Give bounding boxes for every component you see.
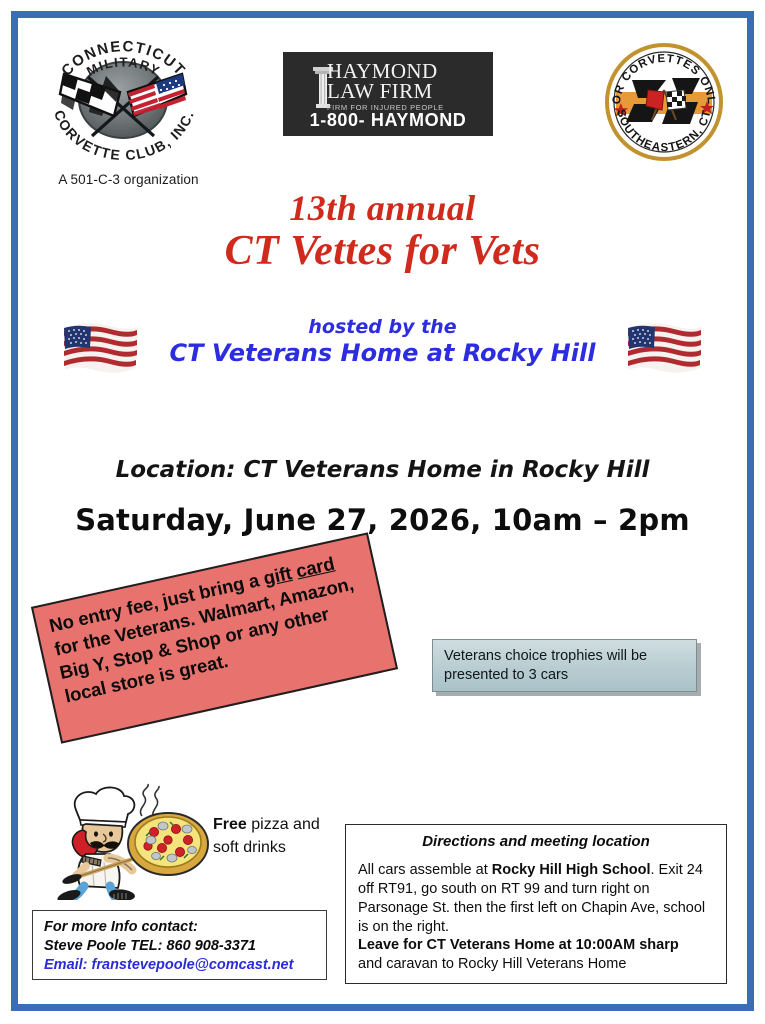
haymond-wordmark: HAYMOND LAW FIRM FIRM FOR INJURED PEOPLE	[283, 57, 493, 109]
for-corvettes-only-southeastern-ct-logo: FOR CORVETTES ONLY SOUTHEASTERN, CT	[604, 42, 724, 162]
free-food-text: Free pizza and soft drinks	[213, 814, 333, 859]
directions-text-3: and caravan to Rocky Hill Veterans Home	[358, 956, 626, 972]
directions-text-1: All cars assemble at	[358, 862, 492, 878]
trophy-info-box: Veterans choice trophies will be present…	[432, 639, 697, 692]
haymond-line1: HAYMOND	[327, 61, 495, 81]
haymond-line2: LAW FIRM	[327, 81, 495, 102]
hosted-by-label: hosted by the	[160, 316, 605, 339]
pizza-chef-illustration	[56, 782, 211, 900]
flyer-page: CONNECTICUT MILITARY CORVETTE CLUB, INC.…	[0, 0, 765, 1024]
directions-bold-school: Rocky Hill High School	[492, 862, 651, 878]
haymond-phone: 1-800- HAYMOND	[283, 110, 493, 131]
directions-title: Directions and meeting location	[358, 833, 714, 850]
contact-heading: For more Info contact:	[44, 918, 315, 937]
contact-name-phone: Steve Poole TEL: 860 908-3371	[44, 937, 315, 956]
american-flag-icon-left	[58, 318, 142, 380]
hosted-by-block: hosted by the CT Veterans Home at Rocky …	[160, 316, 605, 368]
contact-box: For more Info contact: Steve Poole TEL: …	[32, 910, 327, 980]
entry-fee-emphasis-gift: gift	[261, 562, 293, 589]
title-line-2: CT Vettes for Vets	[0, 228, 765, 275]
event-date-time: Saturday, June 27, 2026, 10am – 2pm	[0, 503, 765, 537]
trophy-info-text: Veterans choice trophies will be present…	[444, 647, 685, 686]
event-location: Location: CT Veterans Home in Rocky Hill	[0, 457, 765, 483]
title-line-1: 13th annual	[0, 188, 765, 228]
directions-box: Directions and meeting location All cars…	[345, 824, 727, 984]
free-label: Free	[213, 816, 247, 833]
page-title: 13th annual CT Vettes for Vets	[0, 188, 765, 275]
american-flag-icon-right	[622, 318, 706, 380]
directions-bold-departure: Leave for CT Veterans Home at 10:00AM sh…	[358, 937, 679, 953]
contact-email[interactable]: Email: franstevepoole@comcast.net	[44, 956, 315, 975]
hosted-by-organization: CT Veterans Home at Rocky Hill	[160, 339, 605, 368]
directions-body: All cars assemble at Rocky Hill High Sch…	[358, 861, 714, 974]
club-nonprofit-caption: A 501-C-3 organization	[36, 172, 221, 187]
connecticut-military-corvette-club-logo: CONNECTICUT MILITARY CORVETTE CLUB, INC.	[36, 32, 211, 167]
haymond-law-firm-logo: HAYMOND LAW FIRM FIRM FOR INJURED PEOPLE…	[283, 52, 493, 136]
